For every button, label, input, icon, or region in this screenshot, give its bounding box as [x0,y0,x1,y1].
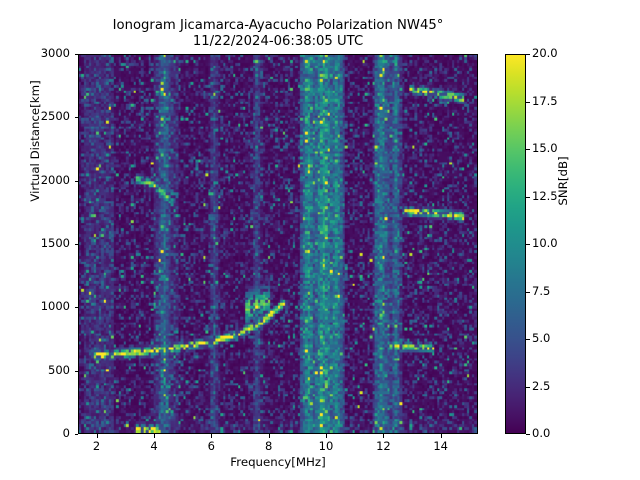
y-tick-label: 2500 [41,109,70,123]
ionogram-figure: Ionogram Jicamarca-Ayacucho Polarization… [0,0,640,480]
colorbar-tick-mark [526,339,530,340]
y-tick-mark [75,117,79,118]
x-tick-label: 10 [306,439,346,453]
y-tick-label: 1500 [41,236,70,250]
colorbar-tick-label: 15.0 [532,141,558,155]
colorbar-tick-label: 7.5 [532,284,550,298]
x-tick-label: 2 [77,439,117,453]
colorbar-tick-mark [526,387,530,388]
y-tick-mark [75,371,79,372]
x-tick-mark [441,434,442,438]
colorbar-tick-label: 2.5 [532,379,550,393]
y-tick-label: 2000 [41,173,70,187]
plot-area [78,54,478,434]
colorbar-tick-mark [526,102,530,103]
y-tick-mark [75,434,79,435]
colorbar-tick-mark [526,197,530,198]
x-tick-mark [269,434,270,438]
y-tick-label: 500 [48,363,70,377]
colorbar [505,54,526,434]
colorbar-tick-mark [526,54,530,55]
chart-title-line1: Ionogram Jicamarca-Ayacucho Polarization… [78,18,478,34]
x-tick-label: 8 [249,439,289,453]
colorbar-tick-label: 10.0 [532,236,558,250]
x-axis-label: Frequency[MHz] [78,455,478,469]
y-tick-label: 0 [63,426,70,440]
x-tick-mark [211,434,212,438]
y-tick-label: 1000 [41,299,70,313]
y-axis-label: Virtual Distance[km] [28,31,42,251]
colorbar-label: SNR[dB] [556,111,570,251]
y-tick-mark [75,307,79,308]
colorbar-tick-label: 0.0 [532,426,550,440]
colorbar-tick-label: 20.0 [532,46,558,60]
chart-title: Ionogram Jicamarca-Ayacucho Polarization… [78,18,478,50]
x-tick-mark [326,434,327,438]
colorbar-tick-mark [526,149,530,150]
colorbar-tick-label: 17.5 [532,94,558,108]
colorbar-tick-mark [526,292,530,293]
y-tick-mark [75,181,79,182]
colorbar-gradient [506,55,525,433]
x-tick-mark [97,434,98,438]
colorbar-tick-label: 5.0 [532,331,550,345]
colorbar-tick-mark [526,244,530,245]
colorbar-tick-label: 12.5 [532,189,558,203]
y-tick-mark [75,244,79,245]
x-tick-mark [383,434,384,438]
x-tick-label: 12 [363,439,403,453]
x-tick-mark [154,434,155,438]
x-tick-label: 14 [421,439,461,453]
ionogram-heatmap [79,55,477,433]
x-tick-label: 4 [134,439,174,453]
y-tick-label: 3000 [41,46,70,60]
colorbar-tick-mark [526,434,530,435]
y-tick-mark [75,54,79,55]
x-tick-label: 6 [191,439,231,453]
chart-title-line2: 11/22/2024-06:38:05 UTC [78,34,478,50]
